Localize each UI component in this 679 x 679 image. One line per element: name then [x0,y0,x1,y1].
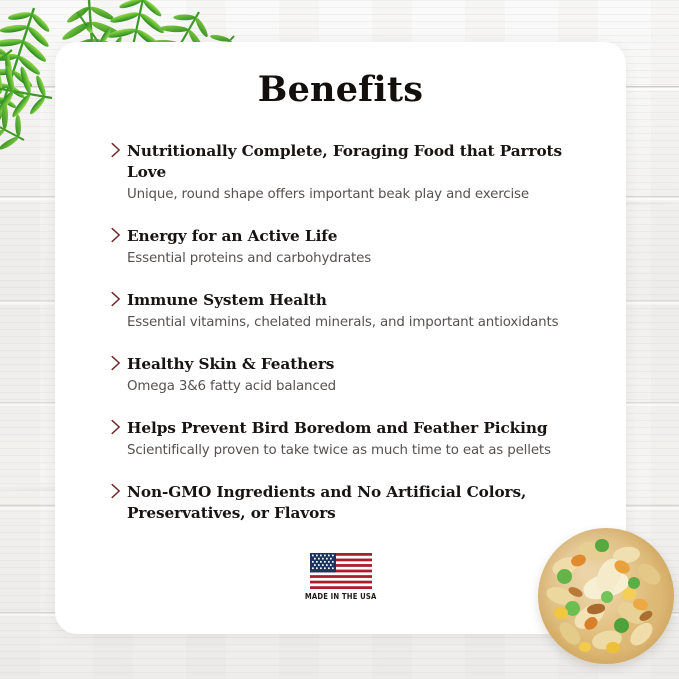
benefit-item: Non-GMO Ingredients and No Artificial Co… [90,482,592,524]
chevron-right-icon [110,419,122,435]
food-ball-body [538,528,674,664]
benefit-heading: Healthy Skin & Feathers [127,354,592,375]
chevron-right-icon [110,142,122,158]
usa-flag-icon [310,553,372,589]
benefit-item: Healthy Skin & Feathers Omega 3&6 fatty … [90,354,592,396]
page-title: Benefits [55,42,626,110]
benefit-subtext: Essential vitamins, chelated minerals, a… [127,313,592,332]
benefit-subtext: Essential proteins and carbohydrates [127,249,592,268]
benefit-item: Nutritionally Complete, Foraging Food th… [90,141,592,204]
chevron-right-icon [110,227,122,243]
benefit-item: Immune System Health Essential vitamins,… [90,290,592,332]
benefit-item: Energy for an Active Life Essential prot… [90,226,592,268]
benefit-heading: Energy for an Active Life [127,226,592,247]
made-in-usa-caption: MADE IN THE USA [305,592,377,601]
chevron-right-icon [110,483,122,499]
benefit-heading: Nutritionally Complete, Foraging Food th… [127,141,592,183]
chevron-right-icon [110,355,122,371]
bird-food-ball-icon [538,528,674,664]
benefit-subtext: Unique, round shape offers important bea… [127,185,592,204]
benefit-subtext: Scientifically proven to take twice as m… [127,441,592,460]
product-benefits-graphic: Benefits Nutritionally Complete, Foragin… [0,0,679,679]
benefits-list: Nutritionally Complete, Foraging Food th… [55,110,626,524]
benefit-heading: Immune System Health [127,290,592,311]
chevron-right-icon [110,291,122,307]
benefit-heading: Helps Prevent Bird Boredom and Feather P… [127,418,592,439]
benefit-subtext: Omega 3&6 fatty acid balanced [127,377,592,396]
benefit-item: Helps Prevent Bird Boredom and Feather P… [90,418,592,460]
benefit-heading: Non-GMO Ingredients and No Artificial Co… [127,482,592,524]
